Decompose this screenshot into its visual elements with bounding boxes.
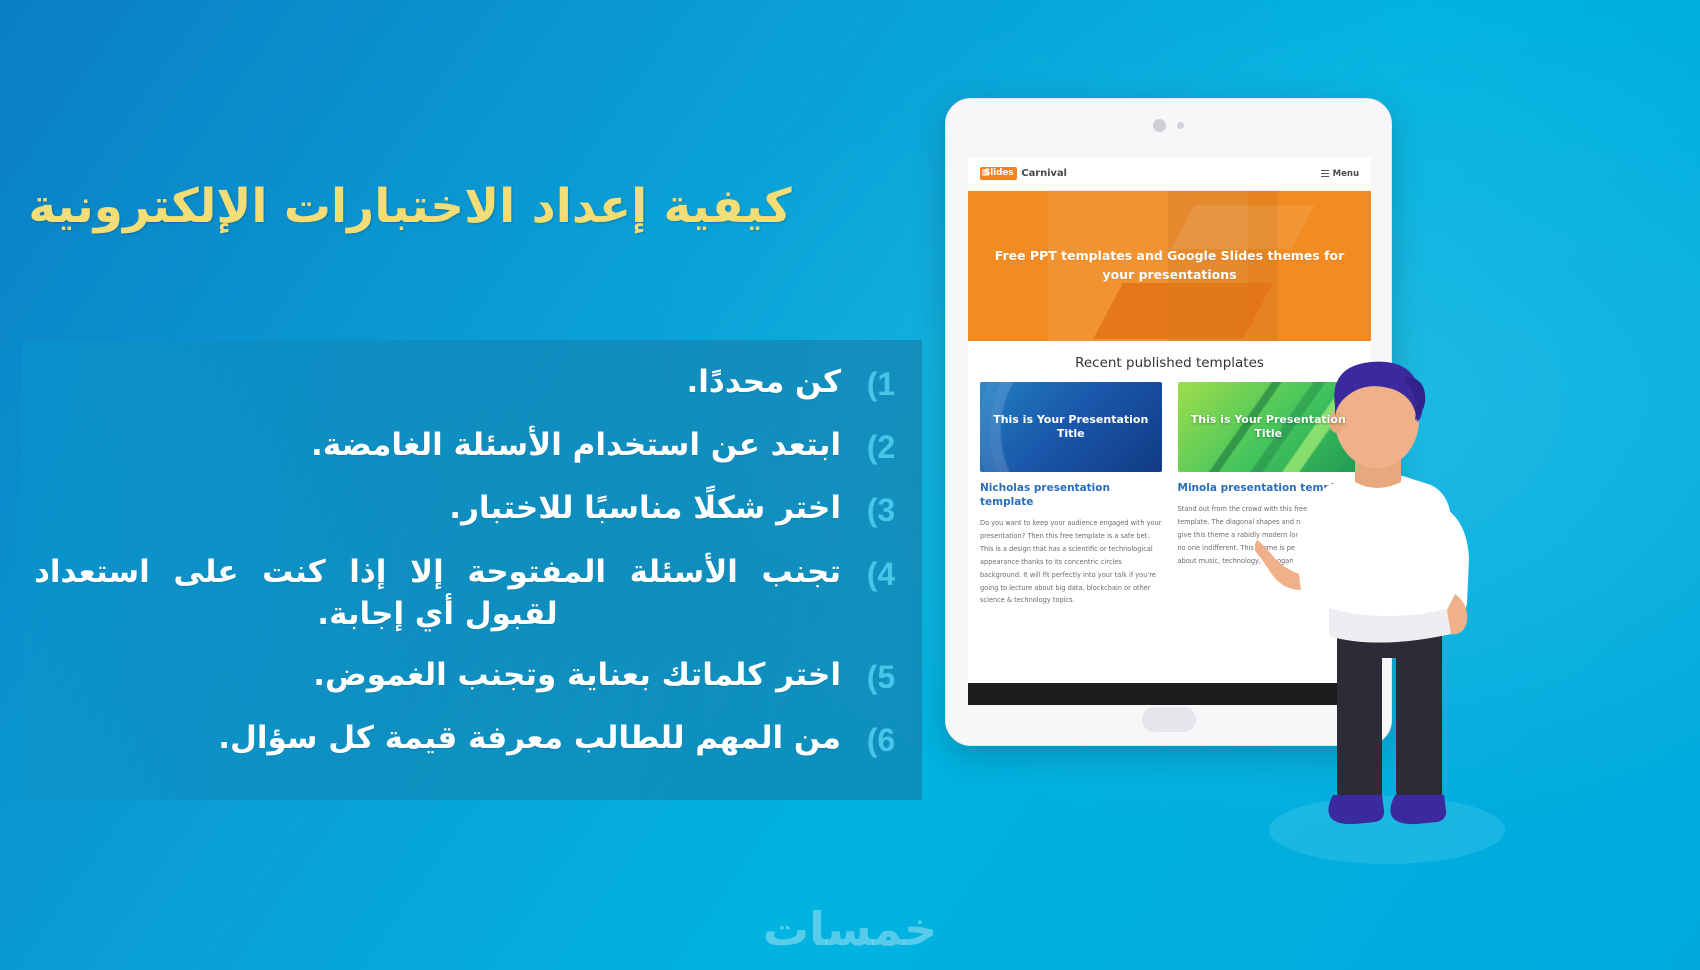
hero-headline: Free PPT templates and Google Slides the… <box>968 247 1371 285</box>
list-item-number: (2 <box>847 424 915 469</box>
list-item: (6 من المهم للطالب معرفة قيمة كل سؤال. <box>0 717 915 762</box>
list-item-label: اختر كلماتك بعناية وتجنب الغموض. <box>0 654 847 697</box>
list-item: (5 اختر كلماتك بعناية وتجنب الغموض. <box>0 654 915 699</box>
list-item-number: (1 <box>847 361 915 406</box>
tablet-camera-row <box>946 119 1391 132</box>
home-button[interactable] <box>1142 707 1196 732</box>
list-item-number: (5 <box>847 654 915 699</box>
logo-badge: Slides <box>980 167 1017 180</box>
site-header: Slides Carnival Menu <box>968 157 1371 191</box>
list-item-number: (4 <box>847 551 915 596</box>
watermark: خمسات <box>0 902 1700 956</box>
hero-shape <box>1093 283 1273 339</box>
list-item: (4 تجنب الأسئلة المفتوحة إلا إذا كنت على… <box>0 551 915 637</box>
page-title: كيفية إعداد الاختبارات الإلكترونية <box>0 178 820 237</box>
site-logo[interactable]: Slides Carnival <box>980 167 1067 180</box>
thumbnail-title: This is Your Presentation Title <box>980 413 1162 442</box>
sensor-icon <box>1177 122 1184 129</box>
menu-label: Menu <box>1333 169 1359 179</box>
list-item: (3 اختر شكلًا مناسبًا للاختبار. <box>0 487 915 532</box>
logo-wordmark: Carnival <box>1021 168 1066 179</box>
list-item: (2 ابتعد عن استخدام الأسئلة الغامضة. <box>0 424 915 469</box>
list-item-label: تجنب الأسئلة المفتوحة إلا إذا كنت على اس… <box>0 551 847 637</box>
template-thumbnail[interactable]: This is Your Presentation Title <box>980 382 1162 472</box>
template-card[interactable]: This is Your Presentation Title Nicholas… <box>980 382 1162 607</box>
hero-shape <box>1171 205 1314 249</box>
list-item-label: كن محددًا. <box>0 361 847 404</box>
hero-banner: Free PPT templates and Google Slides the… <box>968 191 1371 341</box>
template-card-title[interactable]: Nicholas presentation template <box>980 481 1162 509</box>
hamburger-icon <box>1321 170 1329 177</box>
list-item: (1 كن محددًا. <box>0 361 915 406</box>
list-item-number: (6 <box>847 717 915 762</box>
menu-button[interactable]: Menu <box>1321 169 1359 179</box>
list-item-label: اختر شكلًا مناسبًا للاختبار. <box>0 487 847 530</box>
list-item-label: من المهم للطالب معرفة قيمة كل سؤال. <box>0 717 847 760</box>
slide-canvas: كيفية إعداد الاختبارات الإلكترونية (1 كن… <box>0 0 1700 970</box>
list-item-number: (3 <box>847 487 915 532</box>
camera-icon <box>1153 119 1166 132</box>
tips-list: (1 كن محددًا. (2 ابتعد عن استخدام الأسئل… <box>0 345 915 780</box>
template-card-body: Do you want to keep your audience engage… <box>980 517 1162 607</box>
list-item-label: ابتعد عن استخدام الأسئلة الغامضة. <box>0 424 847 467</box>
thumbnail-title: This is Your Presentation Title <box>1178 413 1360 442</box>
